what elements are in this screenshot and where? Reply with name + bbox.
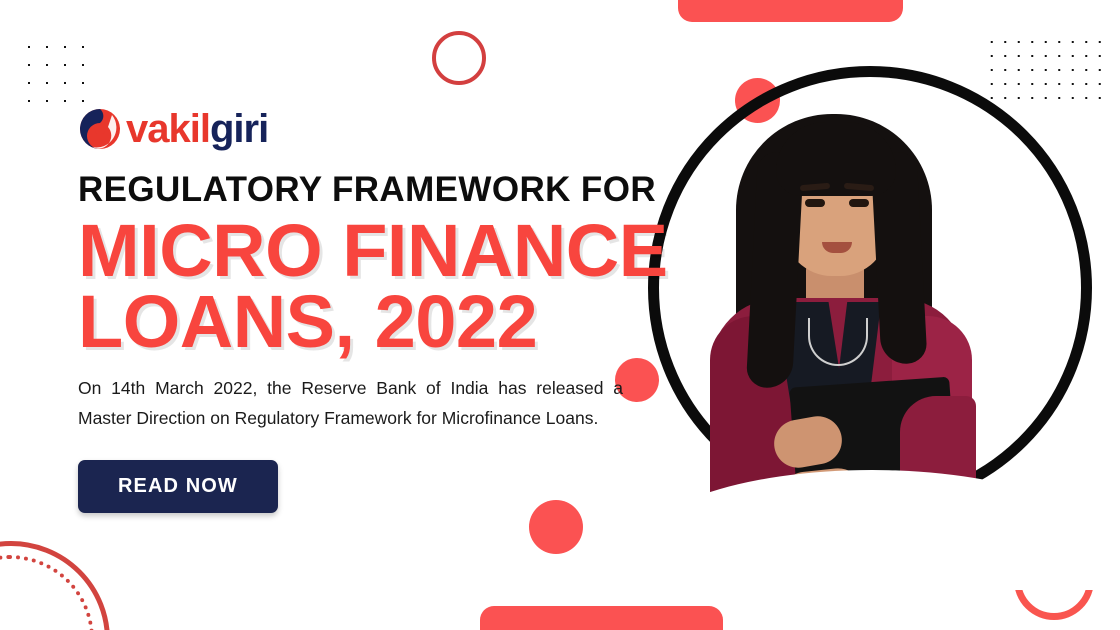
description-text: On 14th March 2022, the Reserve Bank of … bbox=[78, 373, 623, 434]
brand-name-part1: vakil bbox=[126, 107, 210, 151]
top-circle-outline-decoration bbox=[432, 31, 486, 85]
brand-name-part2: giri bbox=[210, 107, 268, 151]
photo-hair-front bbox=[776, 122, 896, 196]
headline-line-2: LOANS, 2022 bbox=[78, 286, 738, 357]
brand-logo[interactable]: vakilgiri bbox=[78, 104, 738, 154]
swirl-logo-icon bbox=[78, 107, 122, 151]
kicker-heading: REGULATORY FRAMEWORK FOR bbox=[78, 172, 738, 209]
brand-name: vakilgiri bbox=[126, 109, 268, 149]
photo-eye-right bbox=[849, 199, 869, 207]
hero-content: vakilgiri REGULATORY FRAMEWORK FOR MICRO… bbox=[78, 104, 738, 513]
headline-line-1: MICRO FINANCE bbox=[78, 215, 738, 286]
page-title: MICRO FINANCE LOANS, 2022 bbox=[78, 215, 738, 357]
bottom-left-dotted-arc-decoration bbox=[0, 555, 94, 630]
read-now-button[interactable]: READ NOW bbox=[78, 460, 278, 513]
promo-banner: vakilgiri REGULATORY FRAMEWORK FOR MICRO… bbox=[0, 0, 1120, 630]
bottom-red-pill-decoration bbox=[480, 606, 723, 630]
photo-eye-left bbox=[805, 199, 825, 207]
dot-grid-left-decoration bbox=[20, 38, 92, 110]
top-red-pill-decoration bbox=[678, 0, 903, 22]
